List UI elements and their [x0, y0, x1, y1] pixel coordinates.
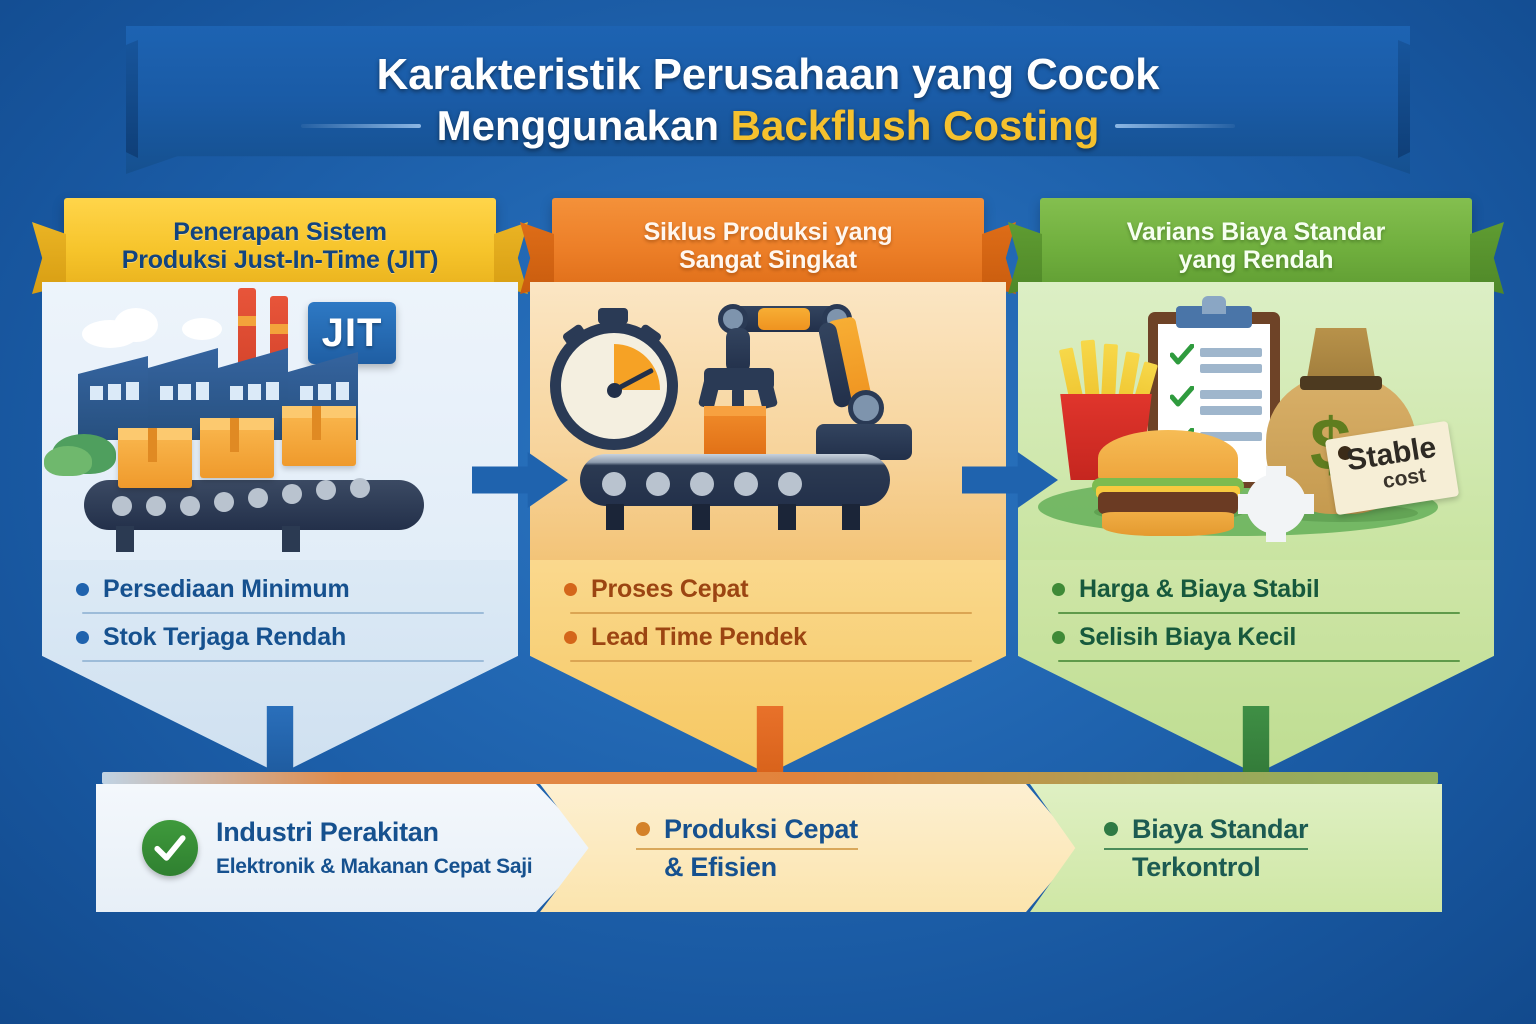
bullet-dot-icon: [76, 583, 89, 596]
factory-window: [160, 386, 173, 400]
bottom-segment-line-1: Biaya Standar: [1132, 814, 1308, 845]
bottom-segment-content: Biaya Standar Terkontrol: [1030, 814, 1442, 883]
bottom-segment-text: Produksi Cepat & Efisien: [636, 814, 858, 883]
check-glyph: [153, 831, 187, 865]
conveyor-leg: [842, 504, 860, 530]
bottom-segment-line-1: Industri Perakitan: [216, 817, 532, 848]
conveyor-leg: [606, 504, 624, 530]
list-item: Persediaan Minimum: [76, 566, 484, 612]
illustration-fastfood-clipboard-moneybag-scene: $ Stable cost: [1018, 282, 1494, 560]
bullet-divider: [1058, 660, 1460, 662]
column-header-siklus: Siklus Produksi yang Sangat Singkat: [552, 198, 984, 294]
list-item: Proses Cepat: [564, 566, 972, 612]
bottom-segment-line-2: Terkontrol: [1104, 852, 1308, 883]
header-line-1: Siklus Produksi yang: [644, 218, 893, 246]
robot-arm-joint: [848, 390, 884, 426]
bullet-label: Proses Cepat: [591, 575, 748, 604]
illustration-factory-conveyor-scene: JIT: [42, 282, 518, 560]
jit-sign-label: JIT: [322, 311, 383, 356]
title-line-2-prefix: Menggunakan: [437, 102, 731, 149]
bush-icon: [44, 446, 92, 476]
bullet-dot-icon: [564, 631, 577, 644]
factory-window: [266, 382, 279, 400]
conveyor-roller: [734, 472, 758, 496]
title-line-2: Menggunakan Backflush Costing: [437, 102, 1100, 150]
panel-siklus: Proses Cepat Lead Time Pendek: [530, 282, 1006, 774]
conveyor-roller: [112, 496, 132, 516]
factory-window: [230, 386, 243, 400]
bottom-segment-divider: [1104, 848, 1308, 850]
bullet-dot-icon: [1052, 631, 1065, 644]
gear-tooth: [1300, 494, 1314, 514]
conveyor-roller: [778, 472, 802, 496]
conveyor-roller: [350, 478, 370, 498]
robot-arm-accent: [758, 308, 810, 330]
conveyor-roller: [282, 484, 302, 504]
orange-box: [704, 410, 766, 458]
list-item: Selisih Biaya Kecil: [1052, 614, 1460, 660]
conveyor-leg: [282, 526, 300, 552]
factory-window: [178, 384, 191, 400]
bullet-label: Harga & Biaya Stabil: [1079, 575, 1320, 604]
clipboard-line: [1200, 390, 1262, 399]
bullet-dot-icon: [1052, 583, 1065, 596]
checkmark-glyph: [1170, 386, 1194, 408]
bottom-segment-divider: [636, 848, 858, 850]
cloud-icon: [114, 308, 158, 342]
conveyor-roller: [214, 492, 234, 512]
column-header-siklus-text: Siklus Produksi yang Sangat Singkat: [644, 218, 893, 274]
bottom-segment-produksi: Produksi Cepat & Efisien: [540, 784, 1080, 912]
clipboard-line: [1200, 406, 1262, 415]
gear-tooth: [1266, 528, 1286, 542]
burger-bun-bottom: [1102, 512, 1234, 536]
title-content: Karakteristik Perusahaan yang Cocok Meng…: [126, 26, 1410, 174]
factory-window: [126, 382, 139, 400]
bottom-segment-biaya: Biaya Standar Terkontrol: [1030, 784, 1442, 912]
bullet-label: Stok Terjaga Rendah: [103, 623, 346, 652]
conveyor-roller: [146, 496, 166, 516]
cloud-icon: [182, 318, 222, 340]
checkmark-icon: [1170, 386, 1194, 408]
header-line-2: yang Rendah: [1179, 246, 1334, 274]
bullet-label: Lead Time Pendek: [591, 623, 807, 652]
bottom-banner: Industri Perakitan Elektronik & Makanan …: [96, 772, 1442, 920]
column-jit: Penerapan Sistem Produksi Just-In-Time (…: [42, 198, 518, 774]
gear-tooth: [1238, 494, 1252, 514]
bottom-segment-text: Biaya Standar Terkontrol: [1104, 814, 1308, 883]
conveyor-roller: [180, 496, 200, 516]
factory-window: [336, 382, 349, 400]
bottom-segment-text: Industri Perakitan Elektronik & Makanan …: [216, 817, 532, 879]
column-header-varians-text: Varians Biaya Standar yang Rendah: [1127, 218, 1385, 274]
column-varians: Varians Biaya Standar yang Rendah: [1018, 198, 1494, 774]
bullet-divider: [82, 660, 484, 662]
factory-window: [196, 382, 209, 400]
smokestack-band: [238, 316, 256, 326]
bullet-label: Selisih Biaya Kecil: [1079, 623, 1296, 652]
column-siklus: Siklus Produksi yang Sangat Singkat: [530, 198, 1006, 774]
list-item: Stok Terjaga Rendah: [76, 614, 484, 660]
bottom-segment-divider: [216, 851, 532, 853]
bullet-dot-icon: [564, 583, 577, 596]
cardboard-box-tape: [230, 418, 239, 452]
bullet-list-siklus: Proses Cepat Lead Time Pendek: [530, 560, 1006, 662]
bullet-dot-icon: [636, 822, 650, 836]
clipboard-line: [1200, 348, 1262, 357]
gear-tooth: [1266, 466, 1286, 480]
cardboard-box-tape: [312, 406, 321, 440]
bottom-segment-content: Produksi Cepat & Efisien: [540, 814, 1080, 883]
bottom-segment-line-2: Elektronik & Makanan Cepat Saji: [216, 855, 532, 879]
bottom-segment-line-1-row: Produksi Cepat: [636, 814, 858, 845]
header-line-1: Penerapan Sistem: [173, 218, 387, 246]
bottom-segment-content: Industri Perakitan Elektronik & Makanan …: [96, 817, 596, 879]
list-item: Lead Time Pendek: [564, 614, 972, 660]
bullet-label: Persediaan Minimum: [103, 575, 349, 604]
header-line-2: Sangat Singkat: [679, 246, 857, 274]
title-line-1: Karakteristik Perusahaan yang Cocok: [377, 50, 1160, 100]
illustration-stopwatch-robot-arm-scene: [530, 282, 1006, 560]
bottom-segment-line-2: & Efisien: [636, 852, 858, 883]
factory-window: [318, 384, 331, 400]
title-rule-left: [301, 124, 421, 128]
bullet-list-jit: Persediaan Minimum Stok Terjaga Rendah: [42, 560, 518, 662]
burger-patty: [1098, 492, 1238, 514]
column-header-jit: Penerapan Sistem Produksi Just-In-Time (…: [64, 198, 496, 294]
factory-window: [108, 384, 121, 400]
column-header-varians: Varians Biaya Standar yang Rendah: [1040, 198, 1472, 294]
bullet-divider: [570, 660, 972, 662]
title-line-2-highlight: Backflush Costing: [731, 102, 1100, 149]
factory-window: [90, 386, 103, 400]
conveyor-roller: [602, 472, 626, 496]
header-line-1: Varians Biaya Standar: [1127, 218, 1385, 246]
clipboard-line: [1200, 364, 1262, 373]
column-header-jit-text: Penerapan Sistem Produksi Just-In-Time (…: [122, 218, 438, 274]
gear-icon: [1246, 474, 1306, 534]
conveyor-roller: [646, 472, 670, 496]
conveyor-roller: [248, 488, 268, 508]
smokestack-band: [270, 324, 288, 334]
cardboard-box-tape: [148, 428, 157, 462]
stopwatch-center-pin: [607, 383, 622, 398]
checkmark-icon: [1170, 344, 1194, 366]
factory-window: [248, 384, 261, 400]
header-line-2: Produksi Just-In-Time (JIT): [122, 246, 438, 274]
orange-box-top: [704, 406, 766, 416]
infographic-canvas: Karakteristik Perusahaan yang Cocok Meng…: [0, 0, 1536, 1024]
bullet-dot-icon: [76, 631, 89, 644]
clipboard-clamp-ring: [1202, 296, 1226, 314]
factory-window: [300, 386, 313, 400]
conveyor-leg: [778, 504, 796, 530]
list-item: Harga & Biaya Stabil: [1052, 566, 1460, 612]
bottom-segment-line-1-row: Biaya Standar: [1104, 814, 1308, 845]
checkmark-glyph: [1170, 344, 1194, 366]
conveyor-leg: [692, 504, 710, 530]
check-circle-icon: [142, 820, 198, 876]
robot-gripper-body: [704, 368, 774, 390]
money-bag-tie: [1300, 376, 1382, 390]
conveyor-roller: [690, 472, 714, 496]
bottom-segment-line-1: Produksi Cepat: [664, 814, 858, 845]
bottom-segment-industri: Industri Perakitan Elektronik & Makanan …: [96, 784, 596, 912]
panel-varians: $ Stable cost Harga & Biaya Stabil: [1018, 282, 1494, 774]
conveyor-leg: [116, 526, 134, 552]
title-rule-right: [1115, 124, 1235, 128]
bottom-banner-accent-bar: [102, 772, 1438, 784]
bullet-dot-icon: [1104, 822, 1118, 836]
panel-jit: JIT: [42, 282, 518, 774]
bullet-list-varians: Harga & Biaya Stabil Selisih Biaya Kecil: [1018, 560, 1494, 662]
title-line-2-row: Menggunakan Backflush Costing: [301, 102, 1236, 150]
conveyor-roller: [316, 480, 336, 500]
